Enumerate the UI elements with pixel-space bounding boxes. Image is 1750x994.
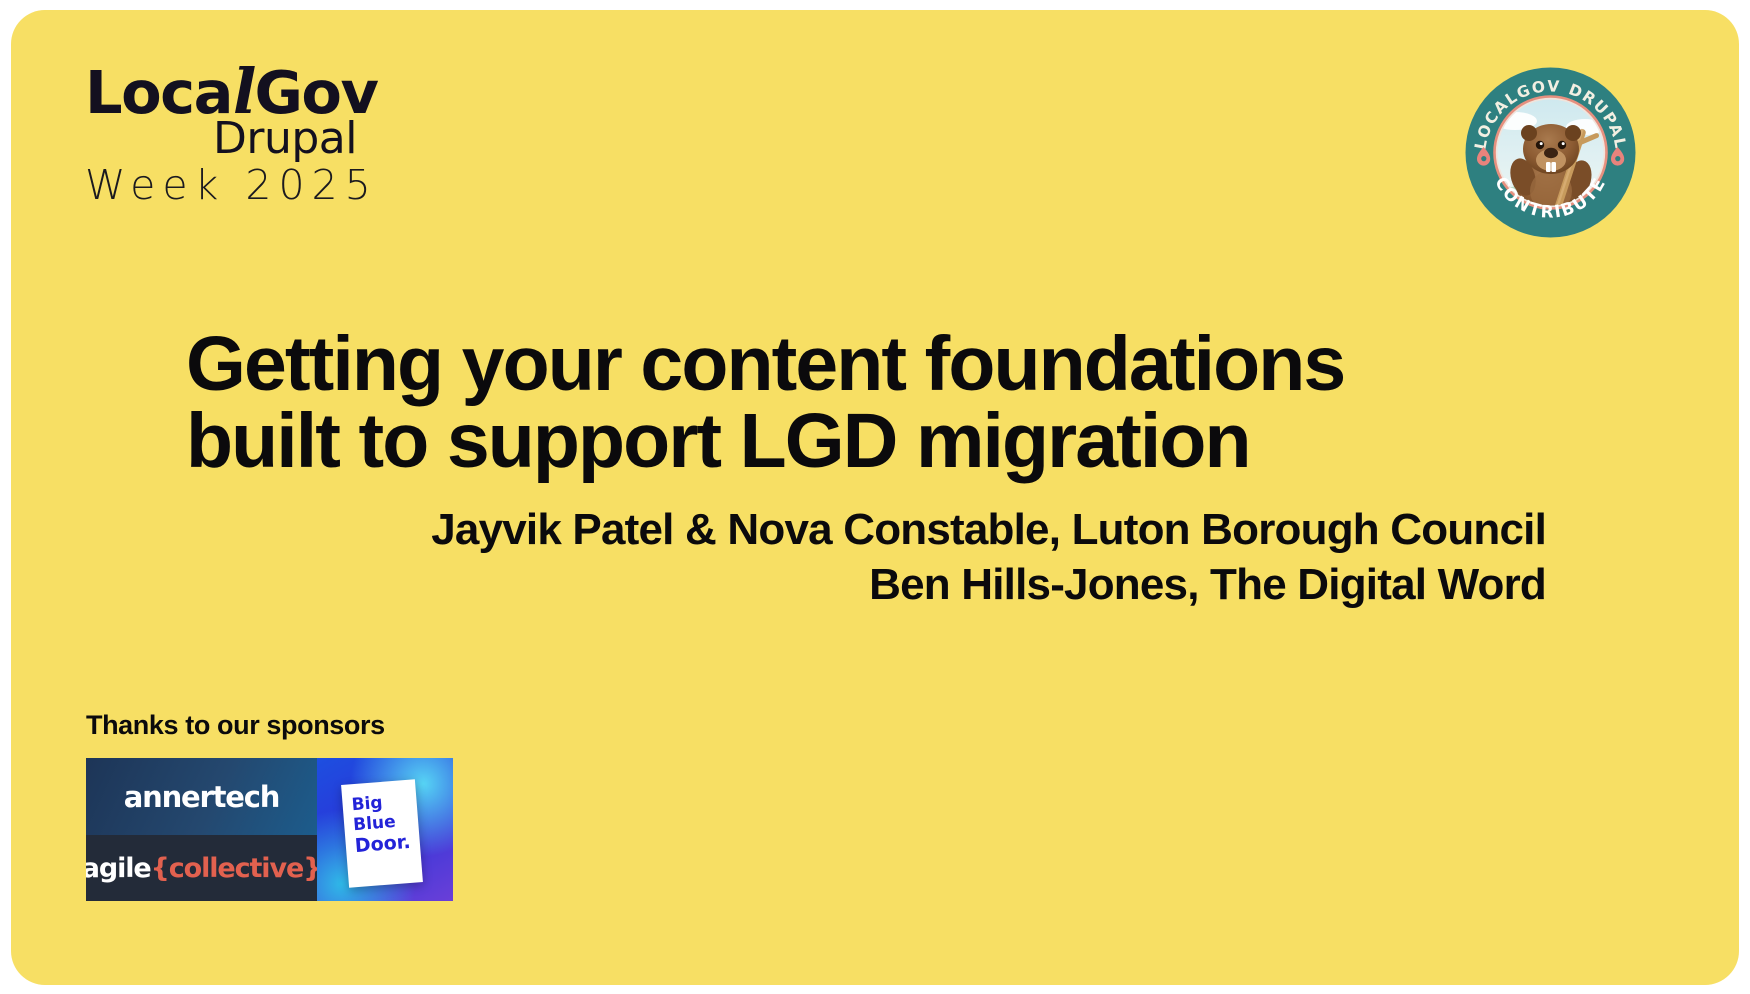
slide-title-line-1: Getting your content foundations <box>186 326 1546 403</box>
brand-localgov-part1: Loca <box>85 58 232 127</box>
presentation-slide: LocalGov Drupal Week 2025 <box>11 10 1739 985</box>
slide-stage: LocalGov Drupal Week 2025 <box>0 0 1750 994</box>
bbd-line-3: Door. <box>354 830 421 857</box>
collective-word-part: {collective} <box>151 853 322 884</box>
bbd-door-word: Door <box>354 831 404 857</box>
slide-title-line-2: built to support LGD migration <box>186 403 1546 480</box>
brand-week-year: Week 2025 <box>85 165 605 206</box>
slide-title: Getting your content foundations built t… <box>186 326 1546 480</box>
annertech-wordmark: annertech <box>124 780 279 814</box>
sponsor-logo-big-blue-door: Big Blue Door. <box>317 758 453 901</box>
sponsor-logo-annertech: annertech <box>86 758 317 835</box>
sponsors-section: Thanks to our sponsors annertech agile{c… <box>86 710 506 901</box>
sponsor-left-column: annertech agile{collective} <box>86 758 317 901</box>
speaker-line-1: Jayvik Patel & Nova Constable, Luton Bor… <box>186 502 1546 557</box>
agile-word-part: agile <box>86 853 151 884</box>
localgov-drupal-week-logo: LocalGov Drupal Week 2025 <box>85 62 605 206</box>
sponsor-logo-agile-collective: agile{collective} <box>86 835 317 901</box>
agile-collective-wordmark: agile{collective} <box>86 853 321 884</box>
headline-block: Getting your content foundations built t… <box>186 326 1546 613</box>
speakers-block: Jayvik Patel & Nova Constable, Luton Bor… <box>186 502 1546 613</box>
contribute-badge-icon: LOCALGOV DRUPAL CONTRIBUTE <box>1463 65 1638 240</box>
sponsor-logo-board: annertech agile{collective} Big Blue Doo… <box>86 758 453 901</box>
bbd-dot: . <box>402 831 411 853</box>
speaker-line-2: Ben Hills-Jones, The Digital Word <box>186 557 1546 612</box>
big-blue-door-card: Big Blue Door. <box>341 779 423 887</box>
localgov-drupal-contribute-badge: LOCALGOV DRUPAL CONTRIBUTE <box>1463 65 1638 240</box>
sponsors-heading: Thanks to our sponsors <box>86 710 506 741</box>
